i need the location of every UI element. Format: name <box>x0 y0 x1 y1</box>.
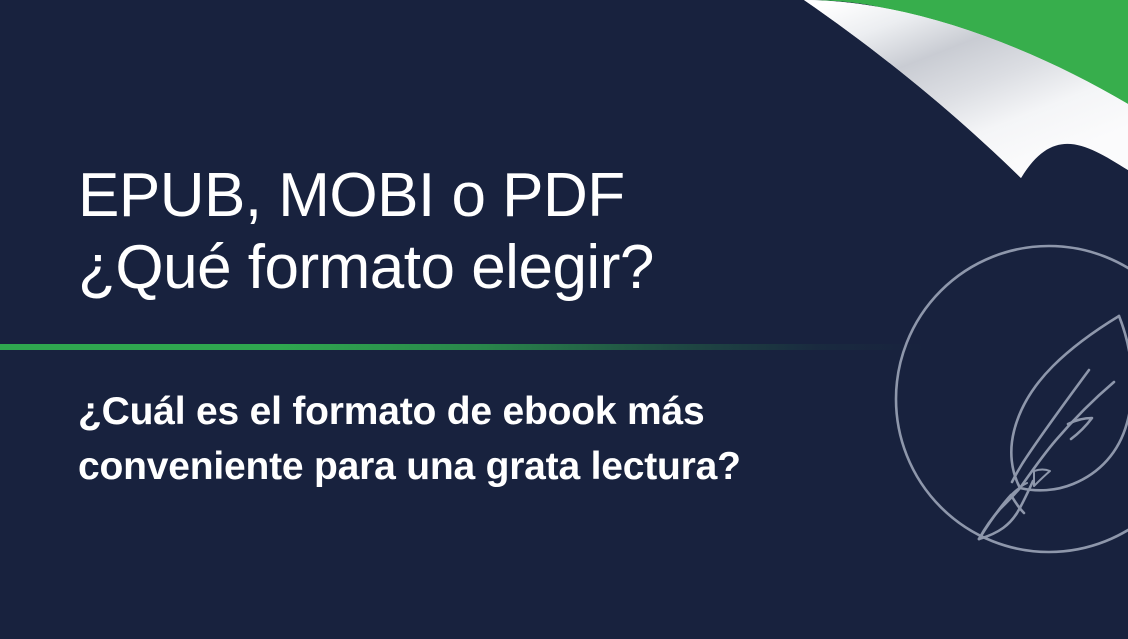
curl-paper-lower <box>804 0 1056 178</box>
feather-shaft-inner <box>1012 370 1089 482</box>
feather-notch <box>1068 418 1092 439</box>
feather-vane-right <box>1020 316 1128 490</box>
headline-line-1: EPUB, MOBI o PDF <box>78 160 654 232</box>
quill-body-left <box>979 488 1020 539</box>
curl-paper-upper <box>804 0 1128 170</box>
quill-feather-in-circle-icon <box>893 243 1128 555</box>
subhead-line-2: conveniente para una grata lectura? <box>78 439 741 494</box>
curl-paper-body <box>804 0 1128 178</box>
page-title: EPUB, MOBI o PDF ¿Qué formato elegir? <box>78 160 654 304</box>
feather-vane-left <box>1011 316 1119 488</box>
curl-green-region <box>806 0 1128 104</box>
page-curl-corner <box>768 0 1128 200</box>
page-subtitle: ¿Cuál es el formato de ebook más conveni… <box>78 384 741 495</box>
green-divider-rule <box>0 344 930 350</box>
quill-barb-detail <box>1034 470 1050 487</box>
quill-nib <box>979 495 1024 539</box>
subhead-line-1: ¿Cuál es el formato de ebook más <box>78 384 741 439</box>
headline-line-2: ¿Qué formato elegir? <box>78 232 654 304</box>
banner-canvas: EPUB, MOBI o PDF ¿Qué formato elegir? ¿C… <box>0 0 1128 639</box>
quill-body-right <box>979 481 1033 539</box>
quill-nib-slit <box>1011 483 1027 495</box>
emblem-circle <box>896 246 1128 552</box>
